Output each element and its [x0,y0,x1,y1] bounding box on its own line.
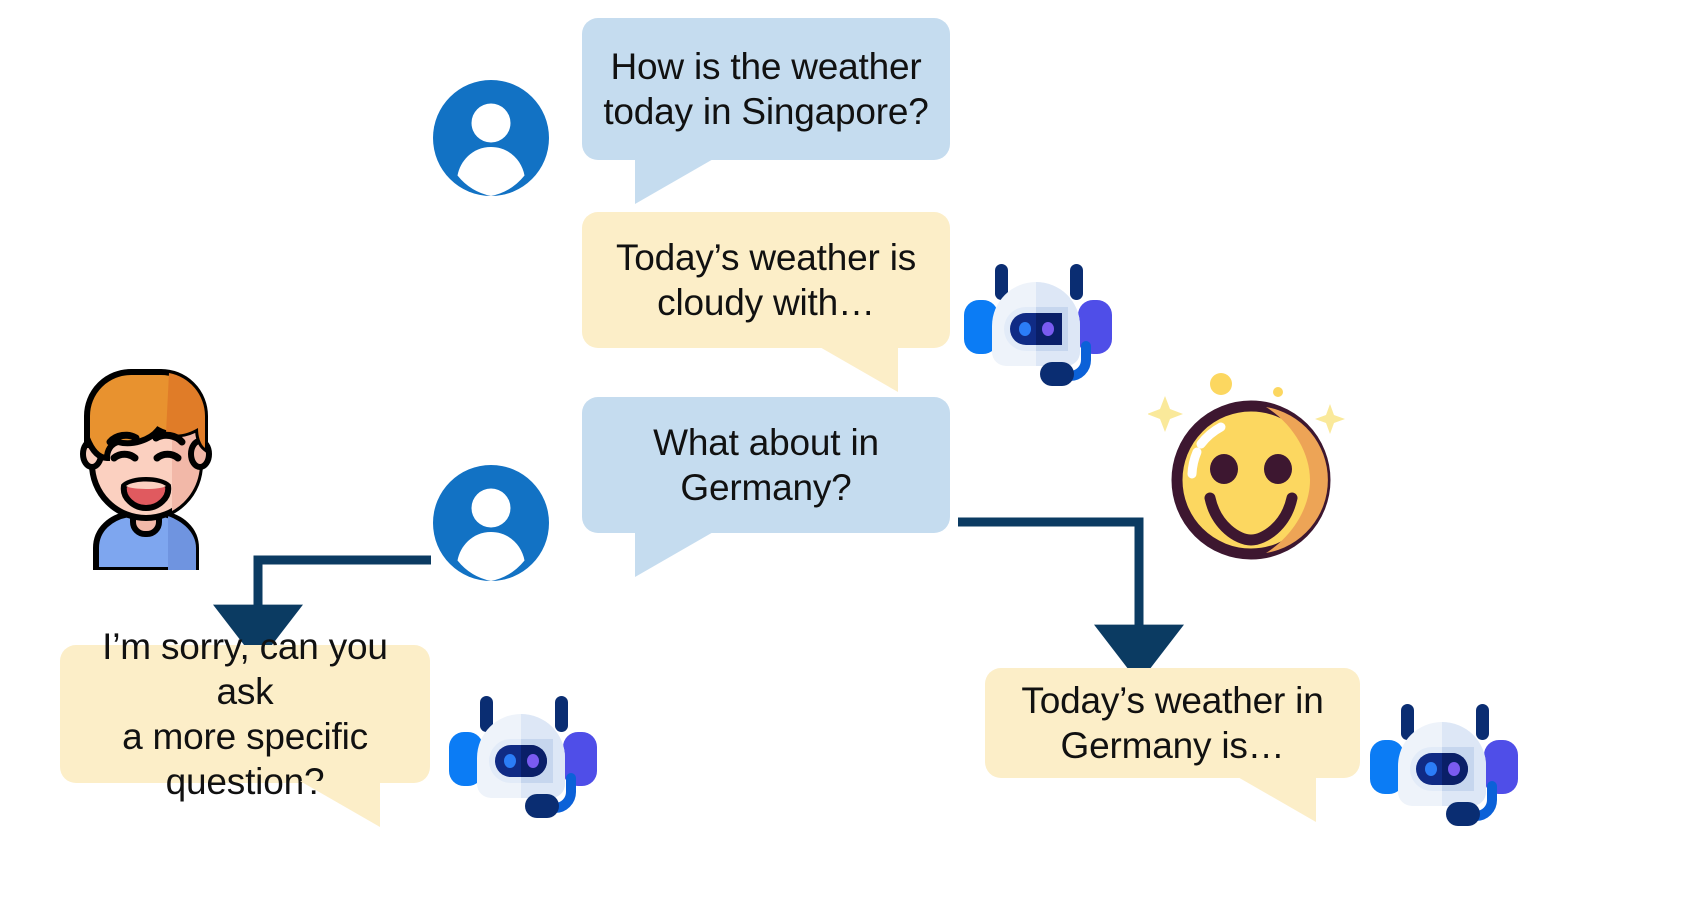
user-avatar-icon [431,78,551,198]
message-line: Germany is… [1021,723,1323,768]
user-avatar-icon [431,463,551,583]
message-line: Germany? [653,465,879,510]
chatbot-avatar-glyph [1364,698,1520,828]
worried-face-icon [72,362,220,570]
smiling-face-glyph [1148,370,1348,560]
bot-outcome-tail-negative [300,781,380,827]
user-message-tail-1 [635,158,715,204]
user-avatar-glyph [431,463,551,583]
worried-face-glyph [72,362,220,570]
message-line: What about in [653,420,879,465]
message-line: Today’s weather in [1021,678,1323,723]
bot-outcome-text-positive: Today’s weather in Germany is… [1021,678,1323,768]
message-line: I’m sorry, can you ask [78,624,412,714]
chatbot-avatar-icon [1364,698,1520,828]
message-line: How is the weather [603,44,928,89]
diagram-canvas: How is the weather today in Singapore? T… [0,0,1685,902]
connector-right-path [958,522,1139,648]
message-line: a more specific [78,714,412,759]
bot-outcome-bubble-negative: I’m sorry, can you ask a more specific q… [60,645,430,783]
message-line: cloudy with… [616,280,916,325]
chatbot-avatar-glyph [958,258,1114,388]
smiling-face-icon [1148,370,1348,560]
user-avatar-glyph [431,78,551,198]
connector-left-path [258,560,431,628]
chatbot-avatar-glyph [443,690,599,820]
user-message-text-1: How is the weather today in Singapore? [603,44,928,134]
bot-outcome-bubble-positive: Today’s weather in Germany is… [985,668,1360,778]
user-message-tail-2 [635,531,715,577]
bot-outcome-tail-positive [1236,776,1316,822]
chatbot-avatar-icon [958,258,1114,388]
bot-message-bubble-1: Today’s weather is cloudy with… [582,212,950,348]
chatbot-avatar-icon [443,690,599,820]
message-line: today in Singapore? [603,89,928,134]
bot-message-tail-1 [818,346,898,392]
message-line: Today’s weather is [616,235,916,280]
bot-message-text-1: Today’s weather is cloudy with… [616,235,916,325]
user-message-text-2: What about in Germany? [653,420,879,510]
user-message-bubble-1: How is the weather today in Singapore? [582,18,950,160]
user-message-bubble-2: What about in Germany? [582,397,950,533]
bot-outcome-text-negative: I’m sorry, can you ask a more specific q… [78,624,412,805]
